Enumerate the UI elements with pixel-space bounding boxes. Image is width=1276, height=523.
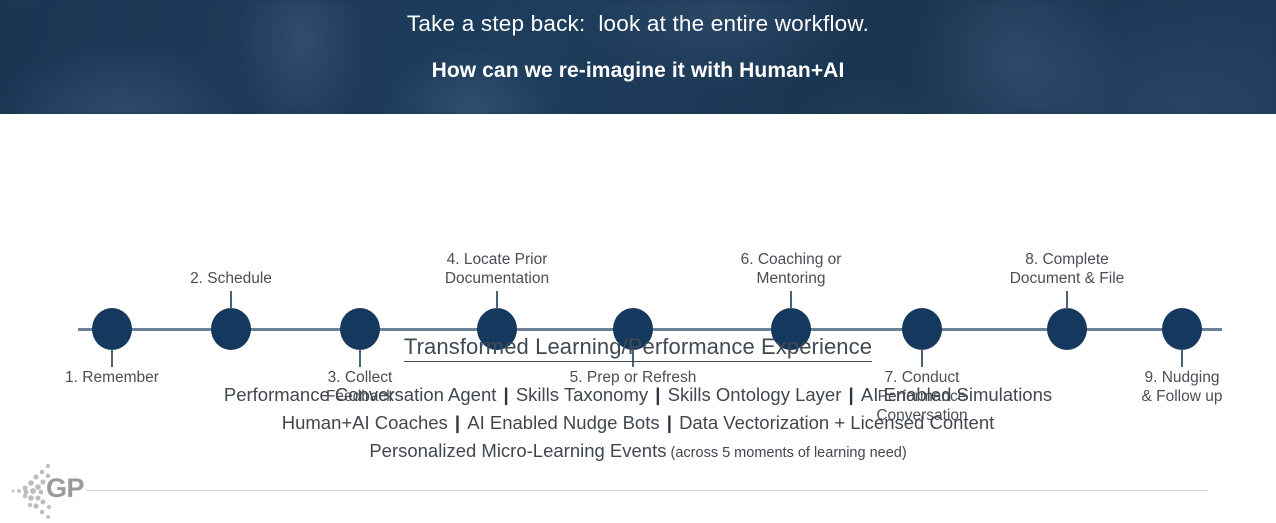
workflow-timeline: 1. Remember2. Schedule3. Collect Feedbac…: [0, 114, 1276, 322]
experience-heading: Transformed Learning/Performance Experie…: [0, 334, 1276, 360]
timeline-step-label-6: 6. Coaching or Mentoring: [741, 250, 842, 288]
banner-headline-secondary: How can we re-imagine it with Human+AI: [432, 58, 845, 84]
timeline-step-label-4: 4. Locate Prior Documentation: [445, 250, 549, 288]
capability-separator-icon: |: [448, 412, 467, 433]
capability-item: Human+AI Coaches: [282, 412, 448, 433]
capability-list: Performance Conversation Agent | Skills …: [0, 381, 1276, 467]
capability-note: (across 5 moments of learning need): [667, 445, 907, 461]
footer-divider: [86, 490, 1208, 491]
header-banner: Take a step back: look at the entire wor…: [0, 0, 1276, 114]
logo-text: GP: [46, 475, 84, 502]
timeline-step-label-8: 8. Complete Document & File: [1010, 250, 1125, 288]
timeline-stem-8: [1066, 291, 1068, 309]
timeline-stem-4: [496, 291, 498, 309]
capability-item: AI Enabled Nudge Bots: [467, 412, 659, 433]
capability-item: Data Vectorization + Licensed Content: [679, 412, 994, 433]
timeline-step-label-2: 2. Schedule: [190, 269, 272, 288]
capability-item: Performance Conversation Agent: [224, 384, 497, 405]
capability-separator-icon: |: [660, 412, 679, 433]
capability-item: Personalized Micro-Learning Events: [369, 440, 666, 461]
footer: GP: [0, 462, 1276, 523]
banner-text-container: Take a step back: look at the entire wor…: [0, 0, 1276, 114]
timeline-stem-6: [790, 291, 792, 309]
capability-line-1: Performance Conversation Agent | Skills …: [0, 381, 1276, 409]
timeline-stem-2: [230, 291, 232, 309]
gp-logo: GP: [12, 462, 84, 520]
capability-item: AI Enabled Simulations: [861, 384, 1052, 405]
capability-separator-icon: |: [648, 384, 667, 405]
capability-item: Skills Ontology Layer: [668, 384, 842, 405]
capability-separator-icon: |: [496, 384, 515, 405]
capability-item: Skills Taxonomy: [516, 384, 648, 405]
capability-separator-icon: |: [841, 384, 860, 405]
banner-headline-primary: Take a step back: look at the entire wor…: [407, 10, 869, 38]
capability-line-2: Human+AI Coaches | AI Enabled Nudge Bots…: [0, 409, 1276, 437]
experience-heading-text: Transformed Learning/Performance Experie…: [404, 334, 872, 362]
